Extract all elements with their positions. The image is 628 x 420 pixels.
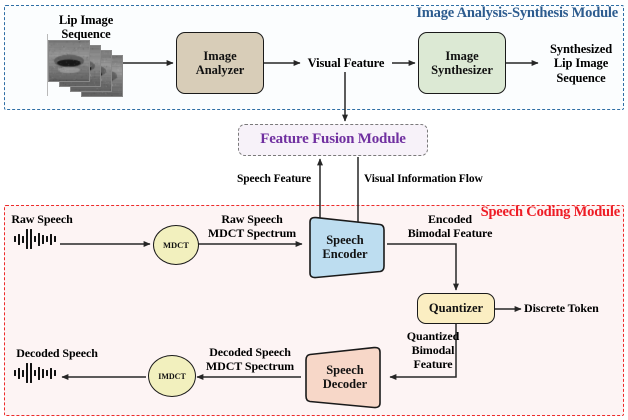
lip-image-sequence-label: Lip Image Sequence (38, 13, 134, 42)
synthesized-lip-image-sequence-label: Synthesized Lip Image Sequence (536, 42, 626, 85)
feature-fusion-module-label: Feature Fusion Module (260, 131, 406, 148)
speech-encoder-label: Speech Encoder (322, 233, 367, 262)
imdct-label: IMDCT (158, 372, 186, 381)
quantizer-box[interactable]: Quantizer (417, 293, 495, 324)
mdct-node[interactable]: MDCT (153, 225, 199, 265)
encoded-bimodal-feature-label: Encoded Bimodal Feature (394, 213, 506, 241)
raw-speech-mdct-spectrum-label: Raw Speech MDCT Spectrum (198, 213, 306, 241)
speech-decoder-label: Speech Decoder (323, 363, 367, 392)
imdct-node[interactable]: IMDCT (148, 355, 196, 397)
quantized-bimodal-feature-label: Quantized Bimodal Feature (392, 330, 474, 371)
quantizer-label: Quantizer (429, 301, 483, 315)
visual-information-flow-label: Visual Information Flow (364, 173, 516, 186)
visual-feature-label: Visual Feature (296, 56, 396, 70)
raw-speech-label: Raw Speech (4, 213, 80, 227)
decoded-speech-mdct-spectrum-label: Decoded Speech MDCT Spectrum (194, 346, 306, 374)
lip-image-stack-icon (48, 40, 122, 95)
image-synthesizer-label: Image Synthesizer (431, 49, 493, 78)
diagram-canvas: Image Analysis-Synthesis Module Speech C… (0, 0, 628, 420)
speech-encoder-box[interactable]: Speech Encoder (303, 213, 387, 281)
speech-feature-label: Speech Feature (228, 173, 320, 186)
image-synthesizer-box[interactable]: Image Synthesizer (418, 32, 506, 94)
decoded-speech-label: Decoded Speech (4, 347, 110, 361)
raw-speech-waveform-icon (14, 228, 56, 250)
image-analyzer-label: Image Analyzer (196, 49, 245, 78)
image-analyzer-box[interactable]: Image Analyzer (176, 32, 264, 94)
feature-fusion-module-box[interactable]: Feature Fusion Module (238, 124, 428, 156)
mdct-label: MDCT (163, 240, 189, 250)
decoded-speech-waveform-icon (14, 362, 56, 384)
discrete-token-label: Discrete Token (524, 302, 624, 316)
image-analysis-synthesis-module-title: Image Analysis-Synthesis Module (416, 5, 618, 22)
speech-decoder-box[interactable]: Speech Decoder (303, 343, 387, 411)
lip-image-frame (48, 40, 90, 82)
